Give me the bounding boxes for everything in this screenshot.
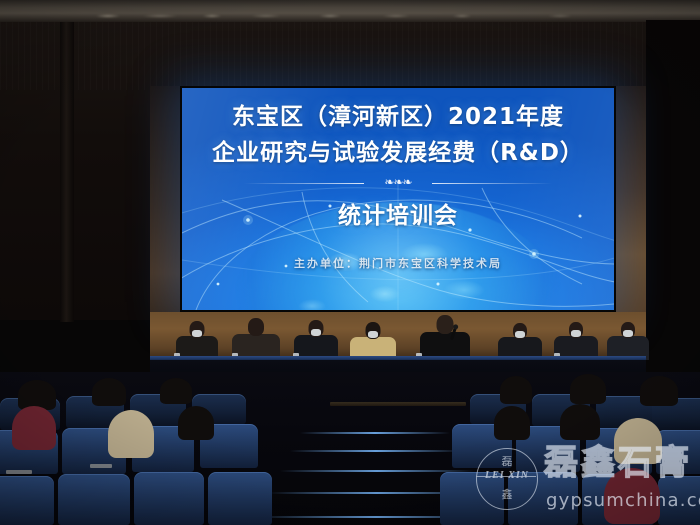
- audience-seat: [58, 474, 130, 525]
- organizer-line: 主办单位：荆门市东宝区科学技术局: [182, 255, 614, 271]
- right-warm-wall: [614, 86, 646, 320]
- left-column: [60, 22, 74, 322]
- watermark: 磊 LEI XIN 鑫 磊鑫石膏 gypsumchina.com: [474, 444, 692, 518]
- desk-rail: [330, 402, 466, 406]
- panel-members-group: [150, 312, 646, 360]
- watermark-brand-cn: 磊鑫石膏: [544, 446, 692, 480]
- led-screen: 东宝区（漳河新区）2021年度 企业研究与试验发展经费（R&D） ❧❧❧ 统计培…: [182, 88, 614, 310]
- led-screen-frame: 东宝区（漳河新区）2021年度 企业研究与试验发展经费（R&D） ❧❧❧ 统计培…: [180, 86, 616, 312]
- title-line-2: 企业研究与试验发展经费（R&D）: [182, 136, 614, 172]
- audience-person: [560, 404, 600, 440]
- photo-canvas: 东宝区（漳河新区）2021年度 企业研究与试验发展经费（R&D） ❧❧❧ 统计培…: [0, 0, 700, 525]
- audience-seat: [134, 472, 204, 525]
- emblem-latin-text: LEI XIN: [477, 470, 537, 481]
- leixin-emblem-icon: 磊 LEI XIN 鑫: [476, 448, 538, 510]
- emblem-bottom-char: 鑫: [477, 489, 537, 500]
- audience-person: [500, 376, 532, 404]
- title-divider-ornament: ❧❧❧: [238, 176, 558, 190]
- ceiling-lights: [0, 12, 700, 20]
- title-line-1: 东宝区（漳河新区）2021年度: [182, 100, 614, 136]
- panel-member: [174, 320, 220, 360]
- emblem-top-char: 磊: [477, 456, 537, 467]
- handout-paper: [90, 464, 112, 468]
- audience-person: [108, 410, 154, 458]
- audience-person: [178, 406, 214, 440]
- back-wall-texture: [0, 20, 700, 90]
- aisle-step: [290, 450, 462, 452]
- audience-person: [12, 406, 56, 450]
- aisle-step: [300, 432, 450, 434]
- title-line-3: 统计培训会: [182, 199, 614, 235]
- audience-person: [494, 406, 530, 440]
- panel-member: [606, 321, 650, 360]
- panel-member: [552, 321, 600, 360]
- left-warm-wall: [150, 86, 184, 320]
- panel-member: [496, 322, 544, 360]
- handout-paper: [6, 470, 32, 474]
- audience-person: [160, 378, 192, 404]
- right-dark-wall: [646, 20, 700, 320]
- screen-title-block: 东宝区（漳河新区）2021年度 企业研究与试验发展经费（R&D） ❧❧❧ 统计培…: [182, 100, 614, 235]
- divider-flourish-icon: ❧❧❧: [384, 175, 411, 189]
- audience-seat: [0, 476, 54, 525]
- audience-person: [640, 376, 678, 406]
- audience-person: [92, 378, 126, 406]
- panel-member: [348, 321, 398, 360]
- audience-person: [570, 374, 606, 404]
- audience-seat: [208, 472, 272, 525]
- panel-member: [230, 318, 282, 360]
- panel-member: [292, 319, 340, 360]
- watermark-url: gypsumchina.com: [546, 490, 700, 511]
- panel-member-speaker: [418, 315, 472, 360]
